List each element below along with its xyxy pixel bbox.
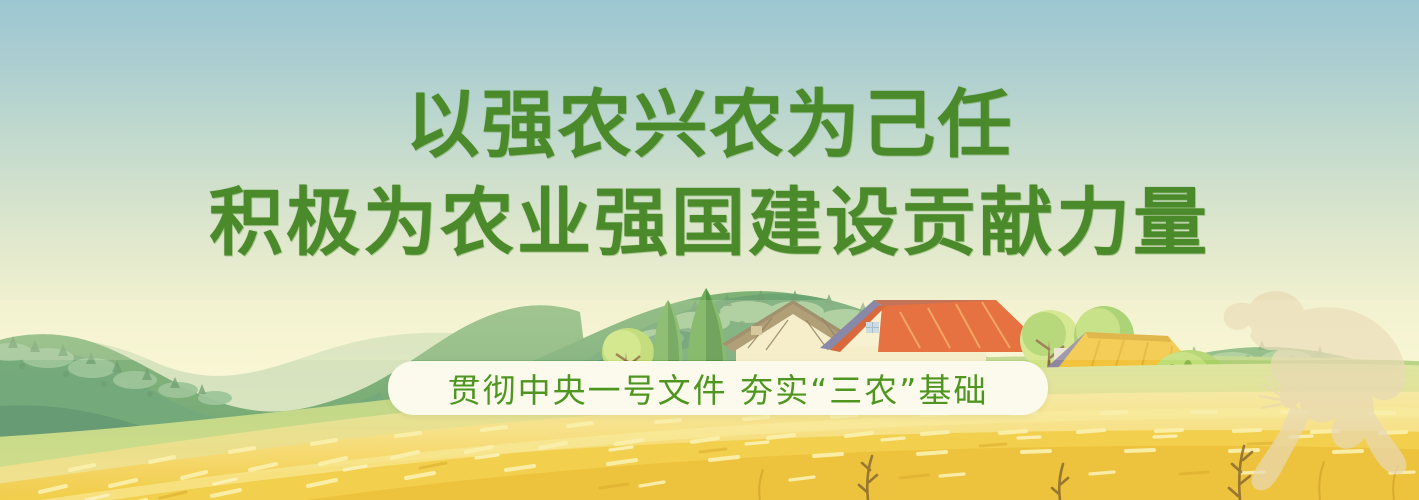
landscape-scene bbox=[0, 0, 1419, 500]
agriculture-promo-banner: 以强农兴农为己任 积极为农业强国建设贡献力量 贯彻中央一号文件 夯实“三农”基础 bbox=[0, 0, 1419, 500]
subtitle-pill: 贯彻中央一号文件 夯实“三农”基础 bbox=[388, 361, 1048, 415]
subtitle-text: 贯彻中央一号文件 夯实“三农”基础 bbox=[448, 364, 989, 412]
